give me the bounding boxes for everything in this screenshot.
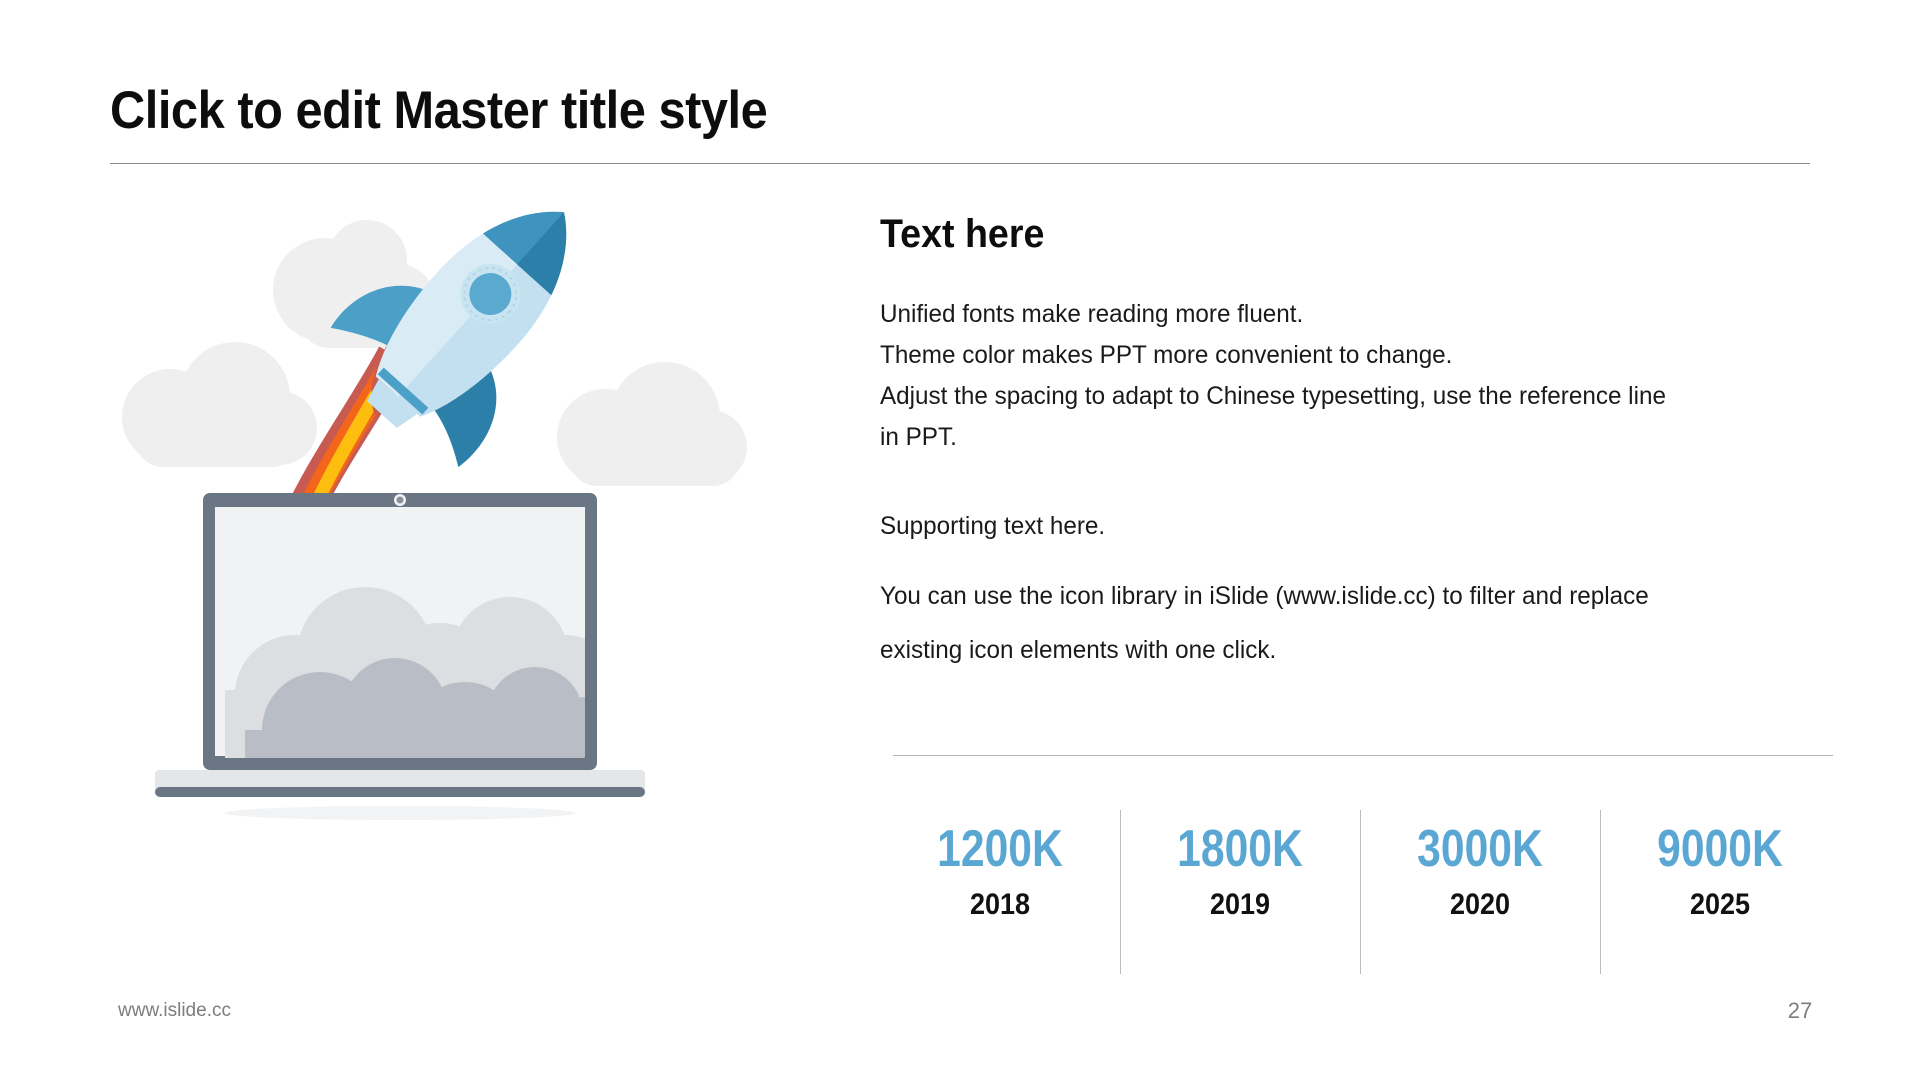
paragraph-islide[interactable]: You can use the icon library in iSlide (… xyxy=(880,569,1820,677)
footer-url[interactable]: www.islide.cc xyxy=(118,1000,231,1022)
stat-value: 9000K xyxy=(1622,820,1819,878)
stat-value: 1800K xyxy=(1142,820,1339,878)
paragraph-supporting[interactable]: Supporting text here. xyxy=(880,506,1792,547)
stat-label: 2018 xyxy=(892,884,1108,926)
paragraph-spacer xyxy=(880,547,1820,569)
laptop-shadow xyxy=(225,806,575,820)
paragraph-primary[interactable]: Unified fonts make reading more fluent. … xyxy=(880,294,1820,458)
cloud-mid-left xyxy=(122,342,317,467)
paragraph-line: in PPT. xyxy=(880,417,1792,458)
laptop-base-edge xyxy=(155,787,645,797)
slide-canvas: Click to edit Master title style xyxy=(0,0,1920,1080)
rocket-laptop-illustration xyxy=(95,185,795,975)
stat-item[interactable]: 1800K 2019 xyxy=(1120,810,1360,956)
stat-item[interactable]: 1200K 2018 xyxy=(880,810,1120,956)
stat-value: 3000K xyxy=(1382,820,1579,878)
paragraph-spacer xyxy=(880,458,1820,506)
stat-item[interactable]: 9000K 2025 xyxy=(1600,810,1840,956)
content-column: Text here Unified fonts make reading mor… xyxy=(880,210,1820,677)
stat-label: 2025 xyxy=(1612,884,1828,926)
title-block: Click to edit Master title style xyxy=(110,80,1810,142)
stat-label: 2019 xyxy=(1132,884,1348,926)
content-heading[interactable]: Text here xyxy=(880,210,1764,258)
stat-value: 1200K xyxy=(902,820,1099,878)
laptop-camera xyxy=(397,497,404,504)
title-divider xyxy=(110,163,1810,164)
page-number: 27 xyxy=(1770,998,1830,1024)
cloud-right xyxy=(557,362,747,486)
laptop xyxy=(155,493,645,820)
stats-row: 1200K 2018 1800K 2019 3000K 2020 9000K 2… xyxy=(880,810,1840,956)
page-title[interactable]: Click to edit Master title style xyxy=(110,80,1674,142)
stat-item[interactable]: 3000K 2020 xyxy=(1360,810,1600,956)
stat-label: 2020 xyxy=(1372,884,1588,926)
paragraph-line: You can use the icon library in iSlide (… xyxy=(880,569,1792,623)
paragraph-line: Adjust the spacing to adapt to Chinese t… xyxy=(880,376,1792,417)
stats-divider xyxy=(893,755,1833,756)
paragraph-line: Unified fonts make reading more fluent. xyxy=(880,294,1792,335)
paragraph-line: existing icon elements with one click. xyxy=(880,623,1792,677)
paragraph-line: Theme color makes PPT more convenient to… xyxy=(880,335,1792,376)
